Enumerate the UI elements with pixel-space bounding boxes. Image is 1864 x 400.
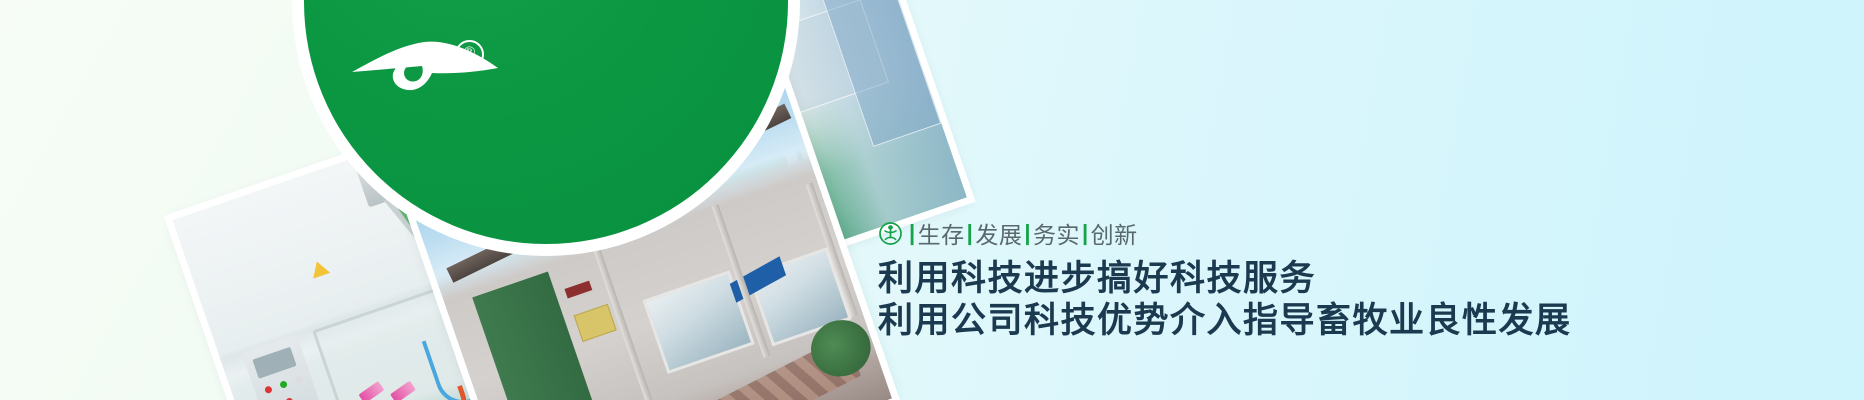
headline-line-1: 利用科技进步搞好科技服务 [878,258,1572,300]
machine-button [279,380,288,389]
machine-screen [252,347,296,379]
brand-slogan: | 生存 | 发展 | 务实 | 创新 [878,216,1138,250]
banner-text-block: | 生存 | 发展 | 务实 | 创新 利用科技进步搞好科技服务 利用公司科技优… [878,0,1778,400]
slogan-word-4: 创新 [1091,216,1138,250]
machine-button [294,375,303,384]
slogan-separator: | [1022,220,1033,246]
machine-button [264,385,273,394]
building-notice [564,281,592,299]
slogan-separator: | [965,220,976,246]
photo-collage: ® [0,0,950,400]
slogan-separator: | [907,220,918,246]
slogan-word-3: 务实 [1033,216,1080,250]
registered-trademark-icon: ® [455,40,484,69]
slogan-word-2: 发展 [975,216,1022,250]
slogan-word-1: 生存 [918,216,965,250]
slogan-separator: | [1080,220,1091,246]
banner-headline: 利用科技进步搞好科技服务 利用公司科技优势介入指导畜牧业良性发展 [878,258,1572,342]
hero-banner: ® | 生存 | 发展 | 务实 | 创新 利用科技进步搞好科技 [0,0,1864,400]
warning-triangle-icon [308,259,330,279]
headline-line-2: 利用公司科技优势介入指导畜牧业良性发展 [878,300,1572,342]
person-in-circle-icon [878,221,903,246]
building-plaque [574,304,617,342]
